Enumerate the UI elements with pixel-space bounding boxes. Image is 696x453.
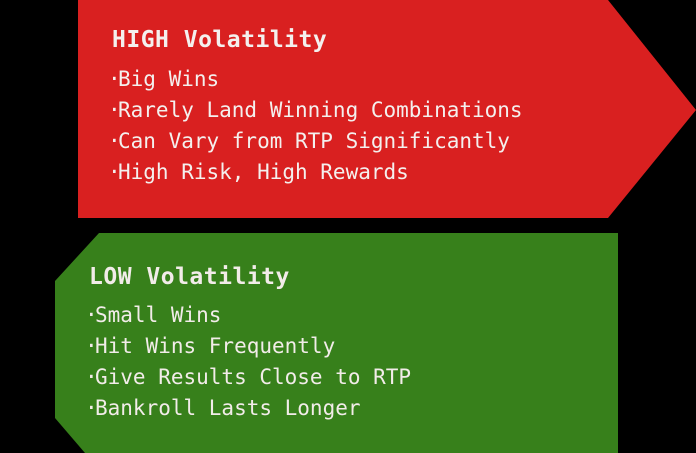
list-item: · Hit Wins Frequently	[85, 331, 411, 362]
bullet-dot-icon: ·	[108, 95, 118, 126]
high-volatility-heading: HIGH Volatility	[112, 29, 327, 52]
list-item-label: Give Results Close to RTP	[95, 362, 411, 393]
high-volatility-banner: HIGH Volatility · Big Wins · Rarely Land…	[78, 0, 696, 218]
list-item-label: Small Wins	[95, 300, 221, 331]
list-item: · Small Wins	[85, 300, 411, 331]
low-volatility-content: LOW Volatility · Small Wins · Hit Wins F…	[55, 233, 618, 453]
list-item: · Bankroll Lasts Longer	[85, 393, 411, 424]
low-volatility-banner: LOW Volatility · Small Wins · Hit Wins F…	[55, 233, 618, 453]
list-item-label: Big Wins	[118, 64, 219, 95]
low-volatility-heading: LOW Volatility	[89, 266, 290, 289]
high-volatility-bullet-list: · Big Wins · Rarely Land Winning Combina…	[108, 64, 523, 188]
bullet-dot-icon: ·	[85, 300, 95, 331]
bullet-dot-icon: ·	[108, 157, 118, 188]
list-item: · High Risk, High Rewards	[108, 157, 523, 188]
list-item: · Big Wins	[108, 64, 523, 95]
bullet-dot-icon: ·	[85, 331, 95, 362]
low-volatility-bullet-list: · Small Wins · Hit Wins Frequently · Giv…	[85, 300, 411, 424]
list-item-label: High Risk, High Rewards	[118, 157, 409, 188]
list-item-label: Hit Wins Frequently	[95, 331, 335, 362]
list-item-label: Can Vary from RTP Significantly	[118, 126, 510, 157]
list-item: · Rarely Land Winning Combinations	[108, 95, 523, 126]
list-item: · Can Vary from RTP Significantly	[108, 126, 523, 157]
high-volatility-content: HIGH Volatility · Big Wins · Rarely Land…	[78, 0, 696, 218]
list-item-label: Bankroll Lasts Longer	[95, 393, 361, 424]
bullet-dot-icon: ·	[108, 126, 118, 157]
infographic-canvas: HIGH Volatility · Big Wins · Rarely Land…	[0, 0, 696, 453]
list-item: · Give Results Close to RTP	[85, 362, 411, 393]
list-item-label: Rarely Land Winning Combinations	[118, 95, 523, 126]
bullet-dot-icon: ·	[108, 64, 118, 95]
bullet-dot-icon: ·	[85, 393, 95, 424]
bullet-dot-icon: ·	[85, 362, 95, 393]
